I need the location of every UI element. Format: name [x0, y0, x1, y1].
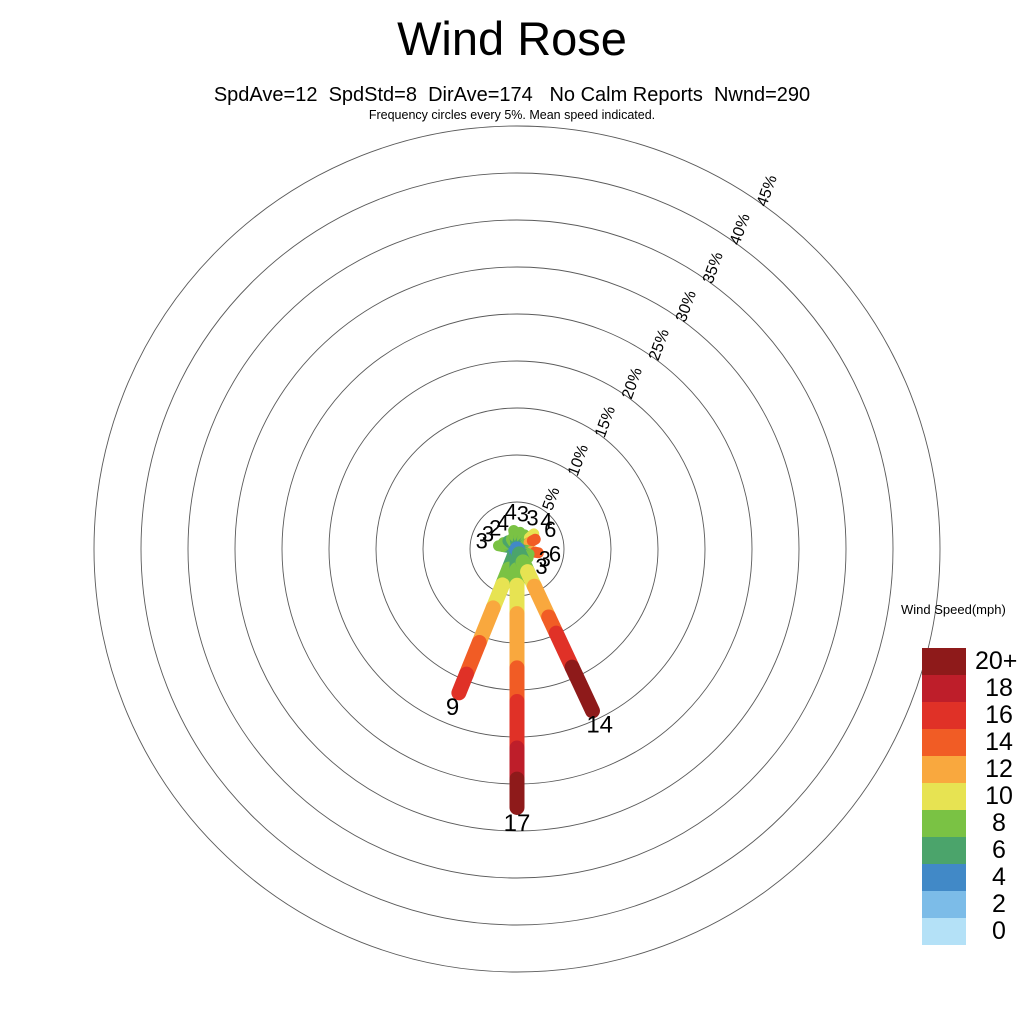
legend-color-swatch — [922, 729, 966, 756]
petal-mean-speed-label: 3 — [526, 506, 538, 531]
wind-petals — [459, 530, 593, 807]
legend-row: 0 — [922, 918, 1023, 945]
petal-mean-speed-label: 4 — [505, 500, 517, 525]
legend-row: 16 — [922, 702, 1023, 729]
legend-color-swatch — [922, 675, 966, 702]
legend-label: 8 — [979, 810, 1019, 837]
legend-row: 4 — [922, 864, 1023, 891]
ring-percent-label: 35% — [700, 250, 727, 286]
legend-label: 10 — [979, 783, 1019, 810]
legend-label: 18 — [979, 675, 1019, 702]
legend-row: 12 — [922, 756, 1023, 783]
wind-rose-page: Wind Rose SpdAve=12 SpdStd=8 DirAve=174 … — [0, 0, 1024, 1024]
legend-label: 16 — [979, 702, 1019, 729]
petal-mean-speed-label: 17 — [504, 810, 531, 837]
legend-color-swatch — [922, 648, 966, 675]
legend-color-swatch — [922, 810, 966, 837]
legend-label: 20+ — [975, 648, 1023, 675]
petal-segment — [459, 674, 467, 693]
ring-percent-label: 25% — [646, 327, 673, 363]
legend-color-swatch — [922, 756, 966, 783]
legend-row: 8 — [922, 810, 1023, 837]
ring-percent-label: 40% — [727, 211, 754, 247]
legend-color-swatch — [922, 783, 966, 810]
legend-row: 2 — [922, 891, 1023, 918]
ring-percent-label: 10% — [565, 442, 592, 478]
legend-label: 4 — [979, 864, 1019, 891]
legend-color-swatch — [922, 837, 966, 864]
legend-label: 2 — [979, 891, 1019, 918]
legend-color-swatch — [922, 891, 966, 918]
legend-color-swatch — [922, 702, 966, 729]
legend-label: 14 — [979, 729, 1019, 756]
legend-row: 14 — [922, 729, 1023, 756]
legend-entries: 20+181614121086420 — [922, 648, 1023, 945]
legend-row: 18 — [922, 675, 1023, 702]
ring-percent-label: 30% — [673, 288, 700, 324]
ring-percent-label: 20% — [619, 365, 646, 401]
petal-mean-speed-label: 9 — [446, 694, 459, 721]
legend: Wind Speed(mph) 20+181614121086420 — [901, 602, 1024, 618]
legend-color-swatch — [922, 864, 966, 891]
petal-segment — [572, 667, 592, 711]
legend-title: Wind Speed(mph) — [901, 602, 1024, 618]
legend-row: 20+ — [922, 648, 1023, 675]
ring-percent-label: 15% — [592, 404, 619, 440]
petal-mean-speed-label: 3 — [535, 554, 547, 579]
wind-rose-plot: 5%10%15%20%25%30%35%40%45% 3324433466339… — [0, 0, 1024, 1024]
legend-label: 0 — [979, 918, 1019, 945]
ring-percent-labels: 5%10%15%20%25%30%35%40%45% — [540, 173, 781, 513]
ring-percent-label: 45% — [754, 173, 781, 209]
petal-segment — [532, 539, 535, 541]
legend-label: 12 — [979, 756, 1019, 783]
legend-row: 10 — [922, 783, 1023, 810]
legend-row: 6 — [922, 837, 1023, 864]
legend-label: 6 — [979, 837, 1019, 864]
legend-color-swatch — [922, 918, 966, 945]
petal-mean-speed-label: 14 — [586, 712, 613, 739]
petal-mean-speed-label: 6 — [544, 517, 556, 542]
